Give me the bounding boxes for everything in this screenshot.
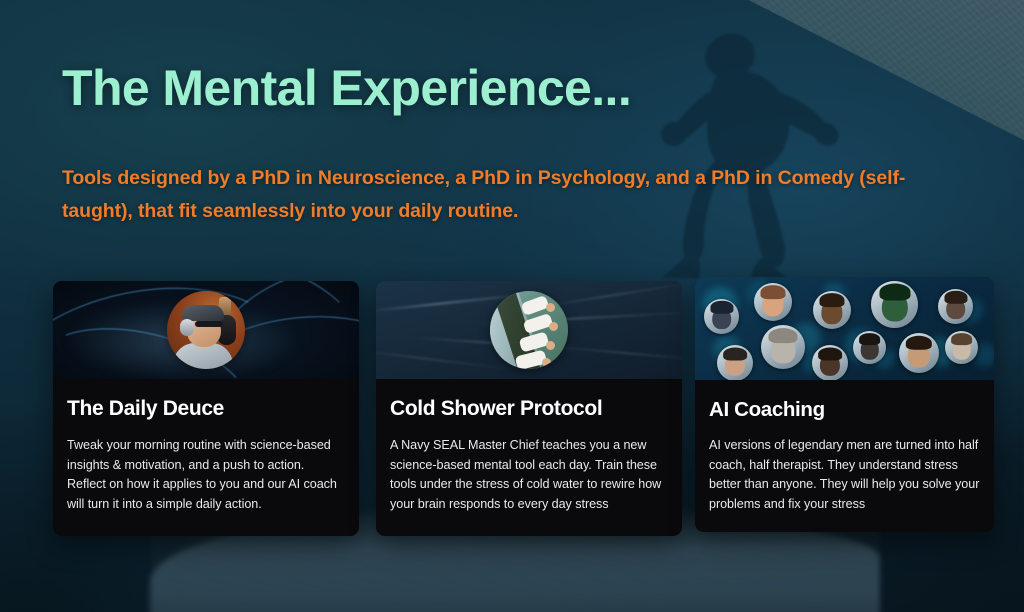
coach-avatar: [945, 331, 978, 364]
card-media-ai-coaching: [695, 277, 994, 380]
coach-avatar: [812, 345, 848, 380]
feature-card-ai-coaching[interactable]: AI Coaching AI versions of legendary men…: [695, 277, 994, 532]
coach-avatar: [761, 325, 805, 369]
card-title: AI Coaching: [709, 398, 980, 422]
card-media-daily-deuce: [53, 281, 359, 379]
feature-card-cold-shower-protocol[interactable]: Cold Shower Protocol A Navy SEAL Master …: [376, 281, 682, 536]
coach-avatar-grid: [695, 277, 994, 380]
coach-avatar: [871, 281, 918, 328]
card-title: Cold Shower Protocol: [390, 397, 668, 421]
page-headline: The Mental Experience...: [62, 62, 631, 114]
coach-avatar: [853, 331, 886, 364]
card-body-ai-coaching: AI Coaching AI versions of legendary men…: [695, 380, 994, 530]
card-description: Tweak your morning routine with science-…: [67, 436, 345, 514]
coach-avatar: [899, 333, 939, 373]
card-title: The Daily Deuce: [67, 397, 345, 421]
runner-silhouette-image: [612, 10, 892, 280]
ice-bath-avatar: [490, 291, 568, 369]
card-description: A Navy SEAL Master Chief teaches you a n…: [390, 436, 668, 514]
coach-avatar: [717, 345, 753, 380]
card-media-cold-shower: [376, 281, 682, 379]
coach-avatar: [754, 283, 792, 321]
card-description: AI versions of legendary men are turned …: [709, 436, 980, 514]
podcast-host-avatar: [167, 291, 245, 369]
feature-card-daily-deuce[interactable]: The Daily Deuce Tweak your morning routi…: [53, 281, 359, 536]
card-body-cold-shower: Cold Shower Protocol A Navy SEAL Master …: [376, 379, 682, 530]
coach-avatar: [938, 289, 973, 324]
coach-avatar: [813, 291, 851, 329]
card-body-daily-deuce: The Daily Deuce Tweak your morning routi…: [53, 379, 359, 530]
coach-avatar: [704, 299, 739, 334]
page-root: The Mental Experience... Tools designed …: [0, 0, 1024, 612]
page-subheadline: Tools designed by a PhD in Neuroscience,…: [62, 162, 962, 228]
